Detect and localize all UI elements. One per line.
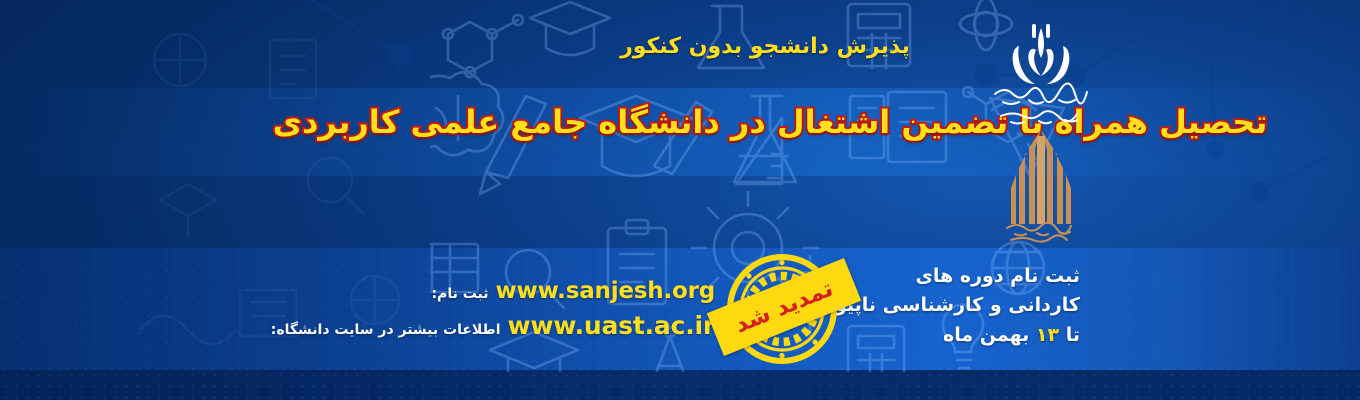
university-caption [1007, 223, 1071, 242]
kicker-text: پذیرش دانشجو بدون کنکور [0, 34, 1360, 59]
ministry-text [995, 83, 1087, 123]
headline-container: تحصیل همراه با تضمین اشتغال در دانشگاه ج… [0, 104, 1360, 141]
background-bottom-strip [0, 370, 1360, 400]
list-item[interactable]: www.sanjesh.org ثبت نام: [315, 278, 715, 304]
list-item[interactable]: www.uast.ac.ir اطلاعات بیشتر در سایت دان… [315, 311, 715, 340]
deadline-prefix: تا [1066, 324, 1080, 346]
deadline-suffix: بهمن ماه [943, 324, 1029, 346]
sanjesh-url-link[interactable]: www.sanjesh.org [496, 278, 716, 304]
uast-url-label: اطلاعات بیشتر در سایت دانشگاه: [271, 322, 501, 338]
logo-group [977, 12, 1105, 244]
sanjesh-url-label: ثبت نام: [431, 286, 488, 302]
page-title: تحصیل همراه با تضمین اشتغال در دانشگاه ج… [273, 104, 1268, 141]
iran-national-emblem-icon [1013, 24, 1070, 84]
promo-banner: پذیرش دانشجو بدون کنکور تحصیل همراه با ت… [0, 0, 1360, 400]
registration-links: www.sanjesh.org ثبت نام: www.uast.ac.ir … [315, 278, 715, 340]
deadline-day-number: ۱۳ [1036, 324, 1059, 346]
status-badge: تمدید شد [712, 248, 852, 370]
uast-url-link[interactable]: www.uast.ac.ir [508, 311, 715, 340]
uast-pen-nib-mark [1011, 130, 1071, 224]
